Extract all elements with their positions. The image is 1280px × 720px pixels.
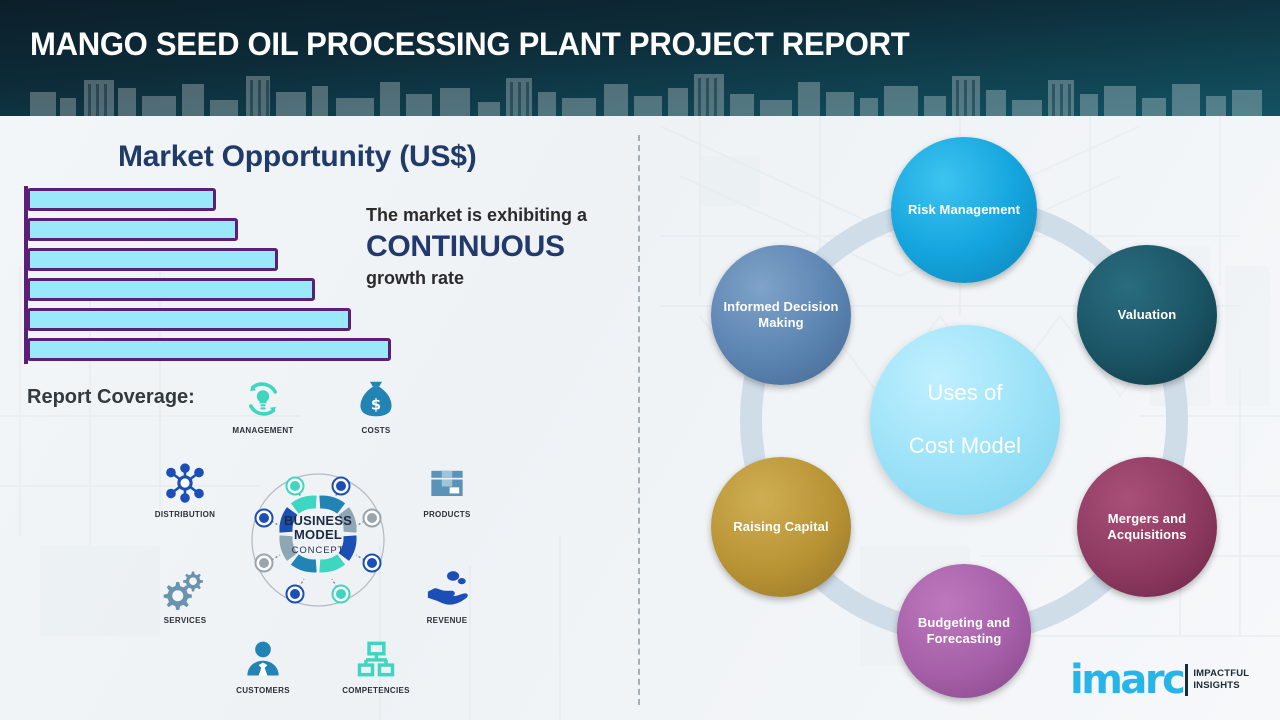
node-budgeting-and-forecasting[interactable]: Budgeting and Forecasting xyxy=(897,564,1031,698)
center-line-2: Cost Model xyxy=(903,433,1027,459)
node-risk-management[interactable]: Risk Management xyxy=(891,137,1037,283)
hand-coins-icon xyxy=(395,566,499,612)
bar-3 xyxy=(27,278,315,301)
coverage-caption: REVENUE xyxy=(395,616,499,625)
skyline-graphic xyxy=(0,58,1280,116)
node-label: Budgeting and Forecasting xyxy=(897,615,1031,646)
box-icon xyxy=(395,460,499,506)
node-center-uses-of-cost-model[interactable]: Uses of Cost Model xyxy=(870,325,1060,515)
coverage-item-services[interactable]: SERVICES xyxy=(133,566,237,625)
node-label: Mergers and Acquisitions xyxy=(1077,511,1217,542)
coverage-caption: MANAGEMENT xyxy=(211,426,315,435)
business-model-wheel: BUSINESS MODEL CONCEPT xyxy=(240,452,396,628)
coverage-item-costs[interactable]: $ COSTS xyxy=(324,376,428,435)
coverage-caption: PRODUCTS xyxy=(395,510,499,519)
report-coverage-label: Report Coverage: xyxy=(27,386,195,409)
node-mergers-and-acquisitions[interactable]: Mergers and Acquisitions xyxy=(1077,457,1217,597)
page-title: MANGO SEED OIL PROCESSING PLANT PROJECT … xyxy=(30,26,909,63)
blurb-highlight: CONTINUOUS xyxy=(366,227,636,268)
node-label: Informed Decision Making xyxy=(711,299,851,330)
growth-blurb: The market is exhibiting a CONTINUOUS gr… xyxy=(366,204,636,290)
coverage-item-revenue[interactable]: REVENUE xyxy=(395,566,499,625)
org-chart-icon xyxy=(324,636,428,682)
bar-0 xyxy=(27,188,216,211)
logo-wordmark: imarc xyxy=(1070,660,1183,700)
coverage-caption: SERVICES xyxy=(133,616,237,625)
coverage-caption: CUSTOMERS xyxy=(211,686,315,695)
network-icon xyxy=(133,460,237,506)
header-banner: MANGO SEED OIL PROCESSING PLANT PROJECT … xyxy=(0,0,1280,116)
logo-tagline-line-2: INSIGHTS xyxy=(1193,680,1249,692)
node-label: Raising Capital xyxy=(727,519,834,535)
market-opportunity-bar-chart xyxy=(24,186,404,364)
center-line-1: Uses of xyxy=(903,380,1027,406)
center-label: Uses of Cost Model xyxy=(897,380,1033,459)
coverage-item-management[interactable]: MANAGEMENT xyxy=(211,376,315,435)
node-informed-decision-making[interactable]: Informed Decision Making xyxy=(711,245,851,385)
node-label: Risk Management xyxy=(902,202,1026,218)
bar-4 xyxy=(27,308,351,331)
coverage-item-distribution[interactable]: DISTRIBUTION xyxy=(133,460,237,519)
money-bag-icon: $ xyxy=(324,376,428,422)
chart-axis xyxy=(24,186,28,364)
gears-icon xyxy=(133,566,237,612)
slide-canvas: MANGO SEED OIL PROCESSING PLANT PROJECT … xyxy=(0,0,1280,720)
coverage-item-customers[interactable]: CUSTOMERS xyxy=(211,636,315,695)
coverage-caption: DISTRIBUTION xyxy=(133,510,237,519)
svg-text:$: $ xyxy=(371,396,381,413)
person-icon xyxy=(211,636,315,682)
coverage-item-competencies[interactable]: COMPETENCIES xyxy=(324,636,428,695)
management-icon xyxy=(211,376,315,422)
logo-tagline-line-1: IMPACTFUL xyxy=(1193,668,1249,680)
logo-tagline: IMPACTFUL INSIGHTS xyxy=(1193,668,1249,691)
coverage-caption: COSTS xyxy=(324,426,428,435)
market-opportunity-title: Market Opportunity (US$) xyxy=(118,140,477,174)
bar-1 xyxy=(27,218,238,241)
logo-divider xyxy=(1185,664,1188,696)
bar-2 xyxy=(27,248,278,271)
blurb-line-3: growth rate xyxy=(366,267,636,290)
node-raising-capital[interactable]: Raising Capital xyxy=(711,457,851,597)
imarc-logo[interactable]: imarc IMPACTFUL INSIGHTS xyxy=(1070,660,1249,700)
coverage-item-products[interactable]: PRODUCTS xyxy=(395,460,499,519)
blurb-line-1: The market is exhibiting a xyxy=(366,204,636,227)
bar-5 xyxy=(27,338,391,361)
node-label: Valuation xyxy=(1112,307,1183,323)
coverage-caption: COMPETENCIES xyxy=(324,686,428,695)
node-valuation[interactable]: Valuation xyxy=(1077,245,1217,385)
